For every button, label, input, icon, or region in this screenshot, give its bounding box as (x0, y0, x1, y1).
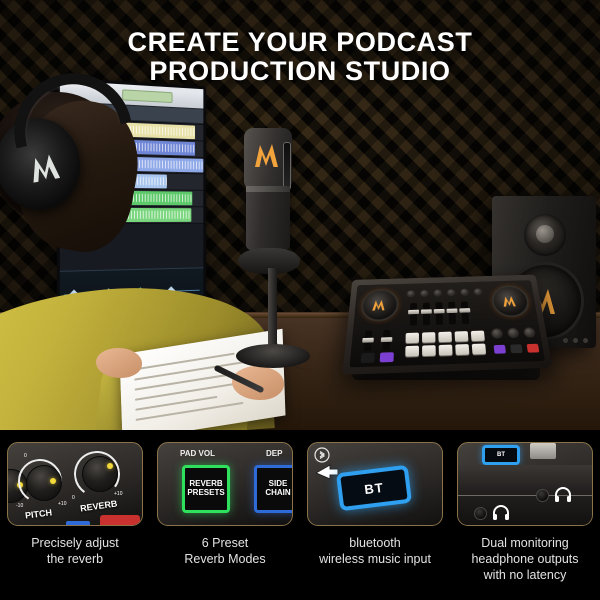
mixer-pad[interactable] (471, 331, 485, 342)
scale-tick-mid: 0 (24, 453, 27, 459)
feature-thumbnail-presets: PAD VOL DEP REVERB PRESETS SIDE CHAIN (157, 442, 293, 526)
person-left-hand (96, 348, 142, 378)
feature-thumbnail-headphone-jacks: BT (457, 442, 593, 526)
maono-m-logo (252, 140, 284, 170)
speaker-tweeter (524, 214, 566, 256)
feature-caption: Dual monitoring headphone outputs with n… (471, 535, 578, 583)
caption-line-2: headphone outputs (471, 551, 578, 567)
mixer-fader[interactable] (436, 302, 444, 325)
caption-line-2: the reverb (31, 551, 119, 567)
scale-tick-max: +10 (58, 501, 66, 507)
mixer-color-button[interactable] (494, 345, 506, 354)
mixer-pad[interactable] (438, 332, 452, 343)
mixer-pad[interactable] (405, 346, 419, 357)
caption-line-2: Reverb Modes (184, 551, 265, 567)
maono-m-logo (501, 294, 520, 308)
mixer-panel (349, 280, 545, 367)
headphone-icon (554, 487, 572, 508)
mixer-pad[interactable] (439, 345, 453, 356)
mixer-button-left[interactable] (361, 353, 375, 363)
scale-tick-min: -10 (16, 503, 23, 509)
headphone-jack-1[interactable] (474, 507, 487, 520)
knob-pitch[interactable] (26, 465, 62, 501)
caption-line-1: Dual monitoring (471, 535, 578, 551)
knob-reverb[interactable] (82, 456, 118, 492)
caption-line-3: with no latency (471, 567, 578, 583)
mixer-knob[interactable] (433, 289, 442, 297)
jog-wheel-left[interactable] (360, 289, 399, 322)
button-side-chain[interactable]: SIDE CHAIN (254, 465, 293, 513)
scale-tick-max: +10 (114, 491, 122, 497)
mixer-pad[interactable] (422, 345, 436, 356)
mixer-color-button[interactable] (510, 344, 523, 353)
label-depth: DEP (266, 449, 282, 458)
caption-line-1: Precisely adjust (31, 535, 119, 551)
mixer-pad[interactable] (406, 333, 419, 344)
caption-line-2: wireless music input (319, 551, 431, 567)
knob-label-reverb: REVERB (79, 498, 118, 513)
feature-caption: 6 Preset Reverb Modes (184, 535, 265, 567)
headphone-icon (492, 505, 510, 526)
mixer-knob-right[interactable] (507, 328, 520, 338)
mixer-knob[interactable] (420, 290, 429, 298)
feature-bluetooth: BT bluetooth wireless music input (300, 430, 450, 600)
button-bluetooth[interactable]: BT (336, 465, 412, 511)
caption-line-1: 6 Preset (184, 535, 265, 551)
product-marketing-image: CREATE YOUR PODCAST PRODUCTION STUDIO -1… (0, 0, 600, 600)
microphone-ring (246, 186, 290, 192)
feature-thumbnail-knobs: -10 0 +10 PITCH 0 +10 REVERB (7, 442, 143, 526)
mixer-knob[interactable] (473, 288, 482, 296)
mixer-fader[interactable] (448, 302, 456, 325)
feature-caption: bluetooth wireless music input (319, 535, 431, 567)
headline-line-2: PRODUCTION STUDIO (0, 57, 600, 86)
maono-m-logo (371, 298, 389, 312)
mixer-fader[interactable] (410, 303, 417, 326)
mixer-fader[interactable] (423, 303, 430, 326)
mixer-side-panel (458, 465, 592, 525)
microphone-grille (283, 142, 291, 190)
mixer-fader-left[interactable] (364, 330, 373, 351)
feature-headphone-outputs: BT (450, 430, 600, 600)
mixer-knob[interactable] (460, 288, 469, 296)
mixer-color-button[interactable] (527, 344, 540, 353)
mixer-pad[interactable] (472, 344, 486, 355)
button-label-line-2: PRESETS (187, 489, 224, 498)
label-pad-vol: PAD VOL (180, 449, 215, 458)
mixer-controls (357, 280, 531, 285)
mixer-pad[interactable] (455, 331, 469, 342)
red-button-edge[interactable] (100, 515, 140, 526)
feature-strip: -10 0 +10 PITCH 0 +10 REVERB Precisely a… (0, 430, 600, 600)
maono-m-logo (24, 147, 69, 187)
mixer-knob[interactable] (406, 290, 415, 298)
mixer-knob-right[interactable] (523, 327, 536, 337)
feature-reverb-knobs: -10 0 +10 PITCH 0 +10 REVERB Precisely a… (0, 430, 150, 600)
blue-button-edge[interactable] (66, 521, 90, 526)
feature-caption: Precisely adjust the reverb (31, 535, 119, 567)
mixer-fader[interactable] (461, 301, 469, 324)
speaker-indicators (563, 338, 588, 343)
button-bluetooth-small[interactable]: BT (482, 445, 520, 465)
page-title: CREATE YOUR PODCAST PRODUCTION STUDIO (0, 28, 600, 86)
mixer-pad[interactable] (455, 344, 469, 355)
mixer-knob[interactable] (447, 289, 456, 297)
knob-label-pitch: PITCH (24, 507, 52, 520)
mixer-fader-left[interactable] (382, 330, 390, 351)
headphone-jack-2[interactable] (536, 489, 549, 502)
audio-mixer-console (342, 275, 552, 375)
jog-wheel-right[interactable] (490, 285, 531, 318)
mixer-pad[interactable] (422, 332, 435, 343)
mixer-button-left[interactable] (380, 352, 394, 362)
feature-thumbnail-bluetooth: BT (307, 442, 443, 526)
hero-section: CREATE YOUR PODCAST PRODUCTION STUDIO (0, 0, 600, 430)
feature-reverb-presets: PAD VOL DEP REVERB PRESETS SIDE CHAIN 6 … (150, 430, 300, 600)
mixer-knob-right[interactable] (491, 328, 503, 338)
button-label-line-2: CHAIN (265, 489, 290, 498)
microphone-stand-stem (268, 268, 277, 350)
scale-tick-min: 0 (72, 495, 75, 501)
caption-line-1: bluetooth (319, 535, 431, 551)
top-control-edge (530, 443, 556, 459)
headline-line-1: CREATE YOUR PODCAST (0, 28, 600, 57)
button-reverb-presets[interactable]: REVERB PRESETS (182, 465, 230, 513)
microphone-stand-base (236, 344, 310, 368)
